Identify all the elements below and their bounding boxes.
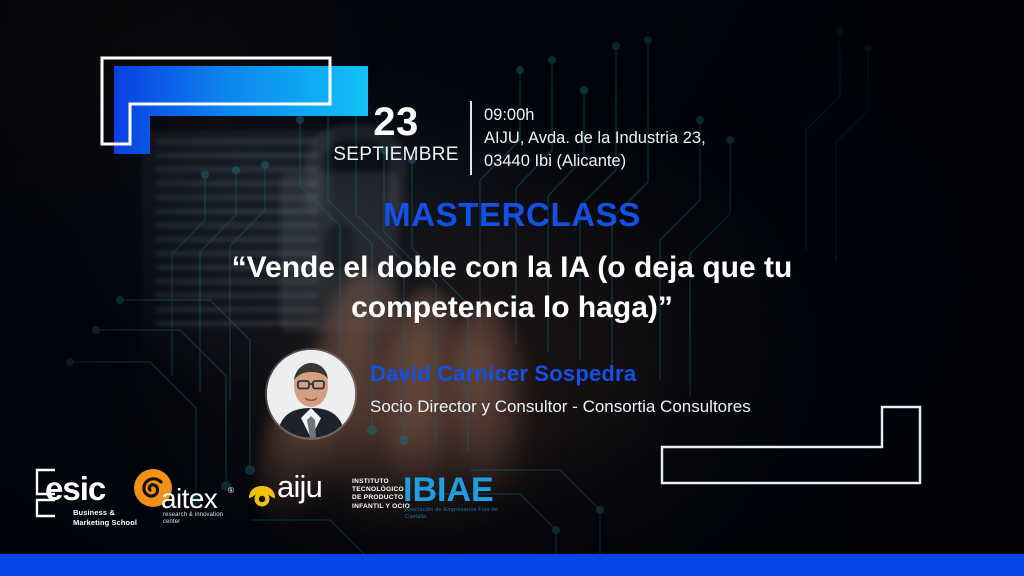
event-poster: 23 SEPTIEMBRE 09:00h AIJU, Avda. de la I… [0, 0, 1024, 576]
logo-ibiae: IBIAE Asociación de Empresarios Foia de … [403, 472, 513, 518]
aitex-registered-mark: ® [228, 486, 234, 495]
speaker-avatar [267, 350, 355, 438]
logo-aiju: aiju INSTITUTO TECNOLÓGICO DE PRODUCTO I… [247, 472, 395, 516]
event-time: 09:00h [484, 104, 814, 127]
event-kicker: MASTERCLASS [0, 196, 1024, 234]
event-date: 23 SEPTIEMBRE [330, 100, 462, 166]
event-venue: 09:00h AIJU, Avda. de la Industria 23, 0… [484, 104, 814, 173]
decorative-l-shape-top-left [100, 56, 368, 166]
l-shape-white-outline [100, 56, 332, 146]
speaker-name: David Carnicer Sospedra [370, 361, 840, 387]
aitex-tagline: research & innovation center [163, 512, 241, 526]
event-day: 23 [330, 100, 462, 144]
ibiae-tagline: Asociación de Empresarios Foia de Castal… [405, 507, 513, 521]
avatar-portrait [267, 350, 355, 438]
aitex-wordmark: aitex [161, 484, 217, 514]
event-title: “Vende el doble con la IA (o deja que tu… [140, 248, 884, 328]
bottom-blue-bar [0, 554, 1024, 576]
event-month: SEPTIEMBRE [330, 144, 462, 166]
logo-esic: esic Business & Marketing School [33, 466, 125, 528]
ibiae-wordmark: IBIAE [403, 472, 494, 508]
aiju-wordmark: aiju [277, 470, 322, 504]
venue-address-line-2: 03440 Ibi (Alicante) [484, 150, 814, 173]
sponsor-logos: esic Business & Marketing School aitex ®… [0, 458, 1024, 536]
event-title-line-2: competencia lo haga)” [140, 288, 884, 328]
vertical-divider [470, 101, 472, 175]
esic-wordmark: esic [45, 472, 105, 505]
event-title-line-1: “Vende el doble con la IA (o deja que tu [140, 248, 884, 288]
aiju-figure-icon [247, 478, 277, 508]
logo-aitex: aitex ® research & innovation center [133, 468, 239, 524]
venue-address-line-1: AIJU, Avda. de la Industria 23, [484, 127, 814, 150]
